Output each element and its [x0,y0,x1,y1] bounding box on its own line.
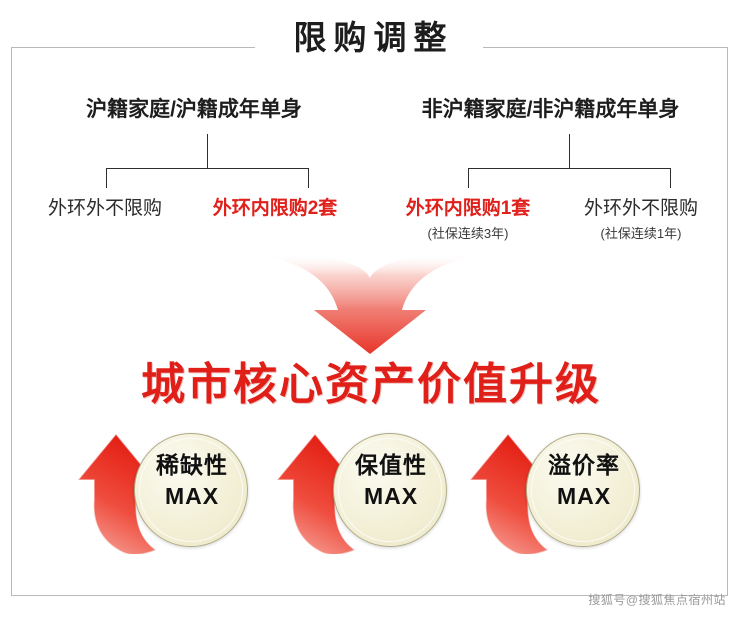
watermark-text: 搜狐号@搜狐焦点宿州站 [588,592,726,608]
badge-label: 稀缺性 MAX [126,450,258,511]
bracket-leg-right [308,168,309,188]
bracket-connector-right [458,134,682,188]
badge-label: 保值性 MAX [325,450,457,511]
badge-label: 溢价率 MAX [518,450,650,511]
badge-item: 保值性 MAX [275,424,475,554]
group-header-nonlocal: 非沪籍家庭/非沪籍成年单身 [378,96,723,124]
policy-main-text: 外环内限购1套 [378,196,558,222]
policy-cell: 外环外不限购 (社保连续1年) [556,196,726,244]
policy-main-text: 外环内限购2套 [186,196,364,222]
bracket-leg-right [670,168,671,188]
badge-item: 溢价率 MAX [468,424,668,554]
badge-label-max: MAX [518,481,650,511]
bracket-leg-left [106,168,107,188]
funnel-down-arrow-icon [252,252,488,356]
badge-label-cn: 保值性 [325,450,457,481]
bracket-stem [207,134,208,168]
policy-main-text: 外环外不限购 [556,196,726,222]
bracket-leg-left [468,168,469,188]
page-title: 限购调整 [0,18,740,58]
policy-main-text: 外环外不限购 [20,196,190,222]
badge-label-max: MAX [325,481,457,511]
policy-note-text: (社保连续1年) [556,224,726,244]
badge-label-cn: 稀缺性 [126,450,258,481]
badge-item: 稀缺性 MAX [76,424,276,554]
policy-cell: 外环内限购1套 (社保连续3年) [378,196,558,244]
headline-text: 城市核心资产价值升级 [0,356,740,414]
bracket-bar [468,168,671,169]
badge-row: 稀缺性 MAX [0,424,740,554]
bracket-stem [569,134,570,168]
policy-note-text: (社保连续3年) [378,224,558,244]
infographic-canvas: 限购调整 沪籍家庭/沪籍成年单身 非沪籍家庭/非沪籍成年单身 外环外不限购 外环… [0,0,740,617]
group-header-local: 沪籍家庭/沪籍成年单身 [24,96,364,124]
policy-cell: 外环外不限购 [20,196,190,224]
bracket-connector-left [96,134,320,188]
badge-label-max: MAX [126,481,258,511]
policy-cell: 外环内限购2套 [186,196,364,224]
bracket-bar [106,168,309,169]
badge-label-cn: 溢价率 [518,450,650,481]
